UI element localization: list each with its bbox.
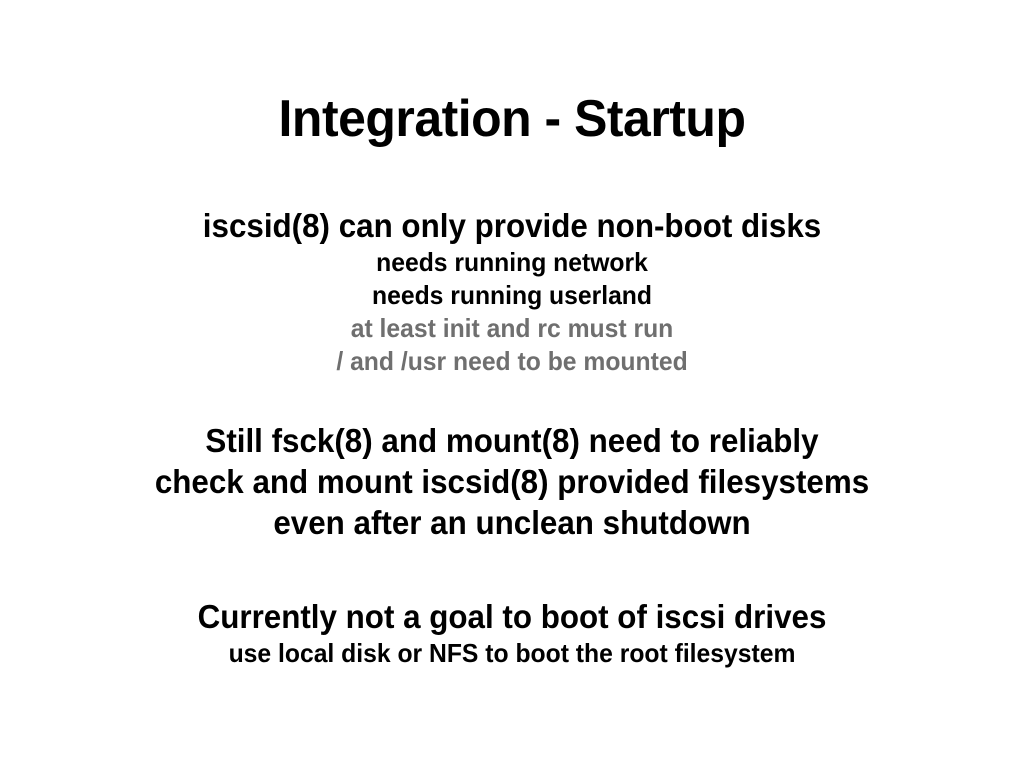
content-block-boot-goal: Currently not a goal to boot of iscsi dr…	[0, 596, 1024, 670]
content-line: even after an unclean shutdown	[26, 502, 999, 543]
presentation-slide: Integration - Startup iscsid(8) can only…	[0, 0, 1024, 768]
block-spacer	[0, 543, 1024, 596]
content-block-fsck-mount-reliability: Still fsck(8) and mount(8) need to relia…	[0, 420, 1024, 543]
content-line: needs running network	[26, 246, 999, 279]
content-line: at least init and rc must run	[26, 312, 999, 345]
slide-title: Integration - Startup	[20, 92, 1003, 147]
content-line: Still fsck(8) and mount(8) need to relia…	[26, 420, 999, 461]
content-line: use local disk or NFS to boot the root f…	[26, 637, 999, 670]
content-line: Currently not a goal to boot of iscsi dr…	[26, 596, 999, 637]
content-line: / and /usr need to be mounted	[26, 345, 999, 378]
content-line: check and mount iscsid(8) provided files…	[26, 461, 999, 502]
content-line: needs running userland	[26, 279, 999, 312]
block-spacer	[0, 378, 1024, 420]
content-block-iscsid-startup-requirements: iscsid(8) can only provide non-boot disk…	[0, 205, 1024, 378]
slide-body: iscsid(8) can only provide non-boot disk…	[0, 205, 1024, 670]
content-line: iscsid(8) can only provide non-boot disk…	[26, 205, 999, 246]
